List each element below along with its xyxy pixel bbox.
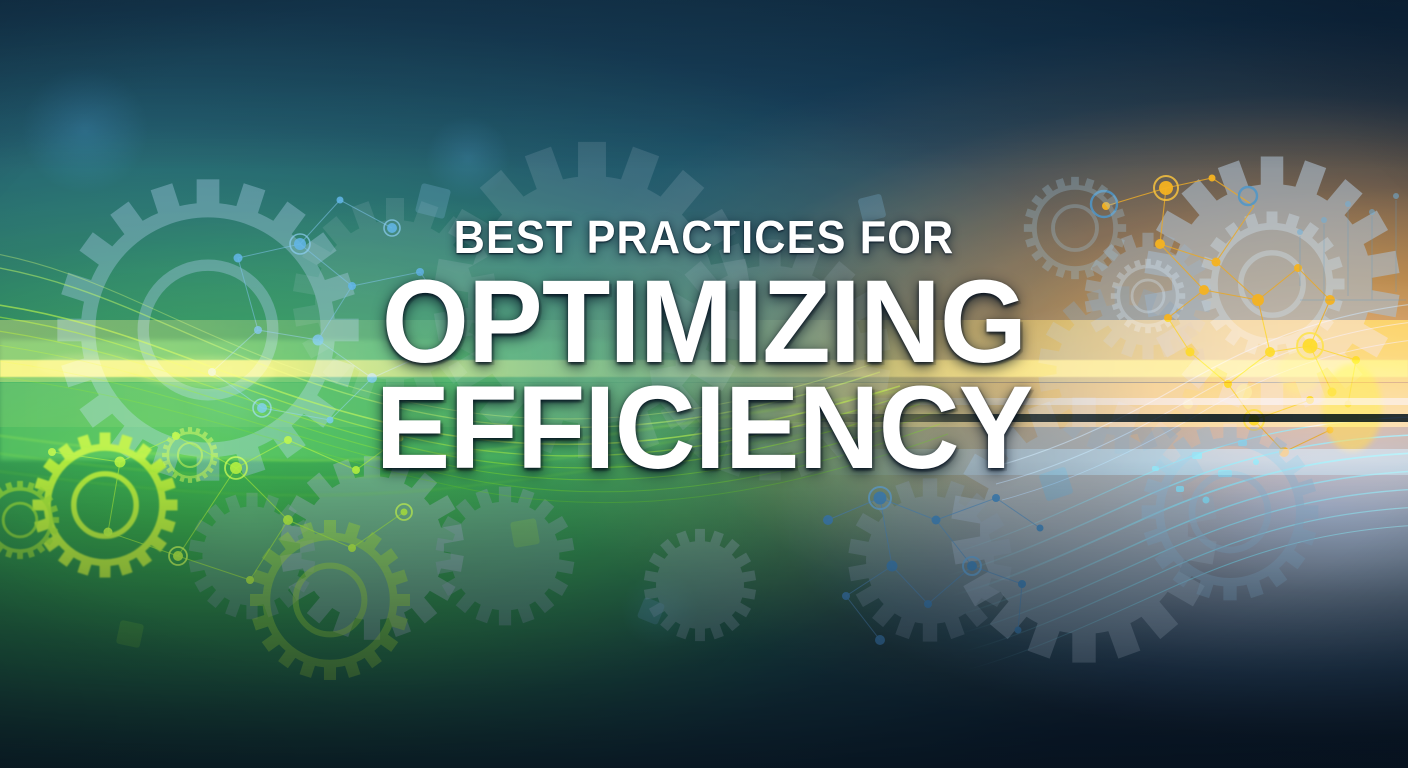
- hero-text-block: BEST PRACTICES FOR OPTIMIZING EFFICIENCY: [0, 214, 1408, 484]
- headline-line-2: EFFICIENCY: [35, 372, 1373, 484]
- gear-solid-icon: [436, 487, 575, 626]
- gear-solid-icon: [848, 478, 1011, 641]
- eyebrow-text: BEST PRACTICES FOR: [42, 214, 1366, 260]
- gear-solid-icon: [644, 529, 756, 641]
- banner-hero: BEST PRACTICES FOR OPTIMIZING EFFICIENCY: [0, 0, 1408, 768]
